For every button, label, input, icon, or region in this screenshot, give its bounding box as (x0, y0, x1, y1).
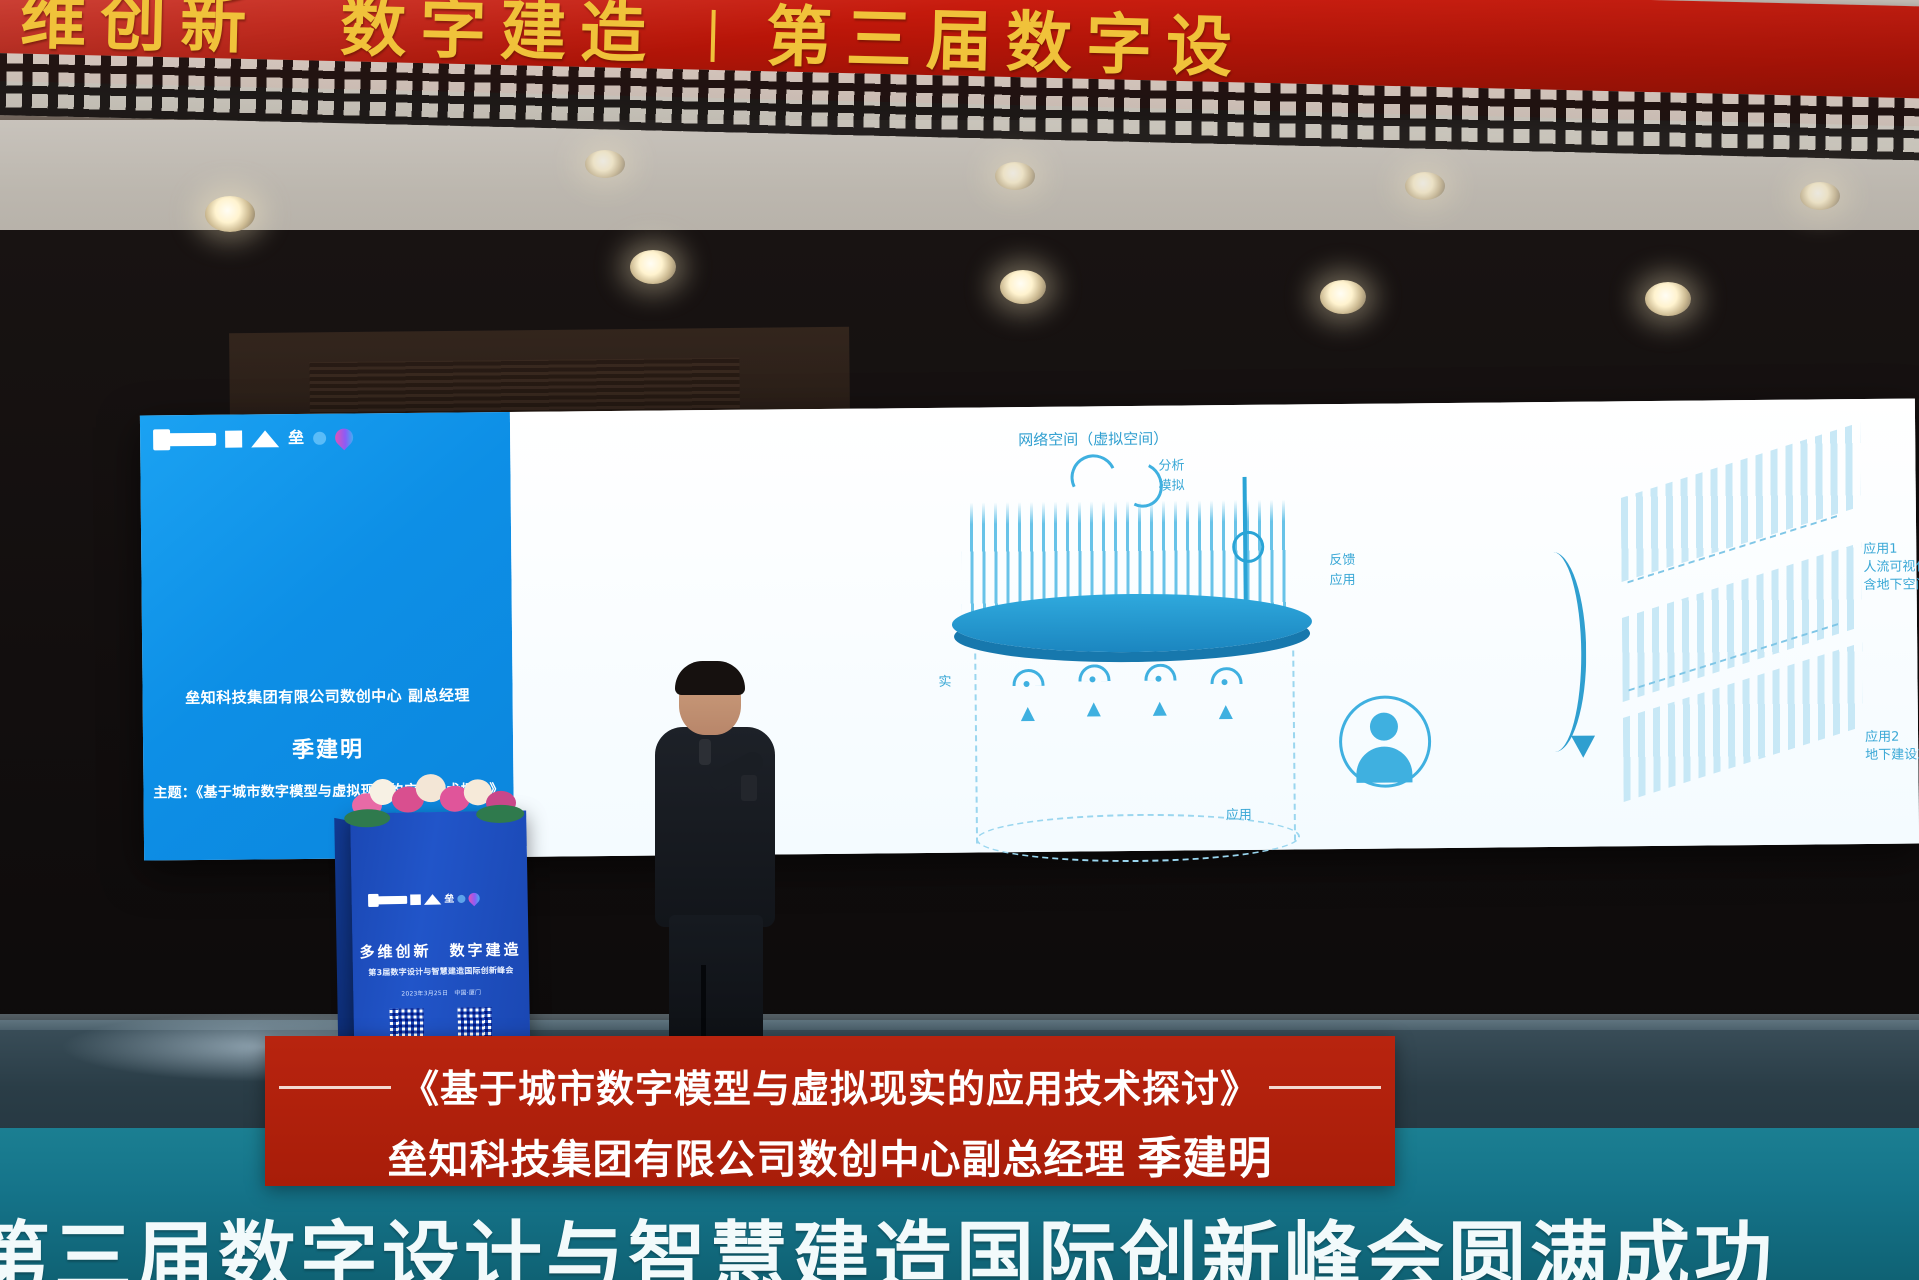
label-app1-line3: 含地下空间 (1864, 576, 1919, 594)
citizen-avatar-icon (1339, 695, 1432, 788)
brand-mountain-icon (251, 430, 279, 447)
foliage (344, 809, 390, 828)
flower-bouquet (343, 766, 534, 835)
conference-stage-photo: 维创新 数字建造 第三届数字设 垒 垒知科技集团有限公司数创中心 副总经理 (0, 0, 1919, 1280)
caption-title-line: 《基于城市数字模型与虚拟现实的应用技术探讨》 (265, 1058, 1395, 1113)
ceiling-light-1 (205, 196, 255, 232)
ceiling-light-6 (585, 150, 625, 178)
podium-front: 垒 多维创新 数字建造 第3届数字设计与智慧建造国际创新峰会 2023年3月25… (350, 810, 530, 1069)
label-app3: 应用 (1226, 807, 1252, 825)
ceiling-light-5 (1645, 282, 1691, 316)
banner-divider-icon (710, 10, 715, 62)
brand-bar-icon (162, 432, 216, 446)
label-application: 应用 (1329, 572, 1355, 590)
microphone-icon (699, 739, 711, 765)
label-app2-line2: 地下建设3D化 (1865, 746, 1919, 764)
podium-brand-char-icon: 垒 (444, 894, 454, 904)
podium-logo-row: 垒 (374, 893, 480, 906)
brand-flower-icon (331, 425, 356, 450)
slide-organization: 垒知科技集团有限公司数创中心 副总经理 (143, 684, 513, 709)
digital-twin-diagram: 网络空间（虚拟空间） 分析 模拟 反馈 应用 实 (890, 401, 1634, 853)
bottom-banner-text: 第三届数字设计与智慧建造国际创新峰会圆满成功 (0, 1196, 1612, 1280)
label-feedback: 反馈 (1329, 552, 1355, 570)
caption-rule-right-icon (1269, 1086, 1381, 1089)
arrow-curve-left-icon (1064, 448, 1123, 507)
caption-speaker-line: 垒知科技集团有限公司数创中心副总经理季建明 (265, 1122, 1395, 1186)
podium-brand-mountain-icon (424, 894, 442, 905)
podium-subline: 第3届数字设计与智慧建造国际创新峰会 (353, 964, 529, 978)
arrow-up-icon-3 (1153, 702, 1167, 716)
arrow-up-icon-1 (1021, 707, 1035, 721)
isometric-layers-graphic: 应用1 人流可视化 含地下空间 应用2 地下建设3D化 (1600, 428, 1919, 832)
caption-speaker-name: 季建明 (1138, 1133, 1273, 1184)
speaker-person (655, 665, 775, 1085)
label-physical: 实 (938, 674, 951, 692)
arrow-up-icon-2 (1087, 702, 1101, 716)
ceiling-light-8 (1405, 172, 1445, 200)
caption-title: 《基于城市数字模型与虚拟现实的应用技术探讨》 (401, 1067, 1259, 1111)
arrow-up-icon-4 (1219, 705, 1233, 719)
podium-brand-dot-icon (457, 895, 465, 903)
ceiling-light-9 (1800, 182, 1840, 210)
slide-speaker-name: 季建明 (143, 730, 513, 766)
label-app1: 应用1 (1863, 541, 1897, 559)
presenter-clicker-icon (741, 775, 757, 801)
ceiling-light-4 (1320, 280, 1366, 314)
slide-logo-row: 垒 (162, 428, 353, 448)
caption-affiliation: 垒知科技集团有限公司数创中心副总经理 (388, 1137, 1126, 1183)
label-analysis: 分析 (1158, 458, 1184, 476)
caption-overlay: 《基于城市数字模型与虚拟现实的应用技术探讨》 垒知科技集团有限公司数创中心副总经… (265, 1036, 1395, 1186)
label-app2: 应用2 (1865, 729, 1899, 747)
podium-date: 2023年3月25日 中国·厦门 (353, 986, 529, 998)
podium-brand-flower-icon (466, 891, 482, 907)
brand-square-icon (225, 430, 242, 447)
ceiling-light-7 (995, 162, 1035, 190)
label-cyber-space: 网络空间（虚拟空间） (1018, 428, 1168, 450)
podium-headline: 多维创新 数字建造 (352, 938, 528, 962)
label-app1-line2: 人流可视化 (1863, 558, 1919, 576)
brand-char-icon: 垒 (288, 430, 304, 446)
ceiling-light-3 (1000, 270, 1046, 304)
caption-rule-left-icon (279, 1086, 391, 1089)
feedback-arrow-icon (1520, 552, 1587, 753)
podium: 垒 多维创新 数字建造 第3届数字设计与智慧建造国际创新峰会 2023年3月25… (349, 766, 530, 1069)
podium-brand-square-icon (410, 894, 421, 905)
speaker-hair (675, 661, 745, 695)
ceiling-light-2 (630, 250, 676, 284)
podium-brand-bar-icon (374, 896, 408, 905)
brand-dot-icon (313, 431, 326, 444)
foliage (476, 805, 524, 824)
